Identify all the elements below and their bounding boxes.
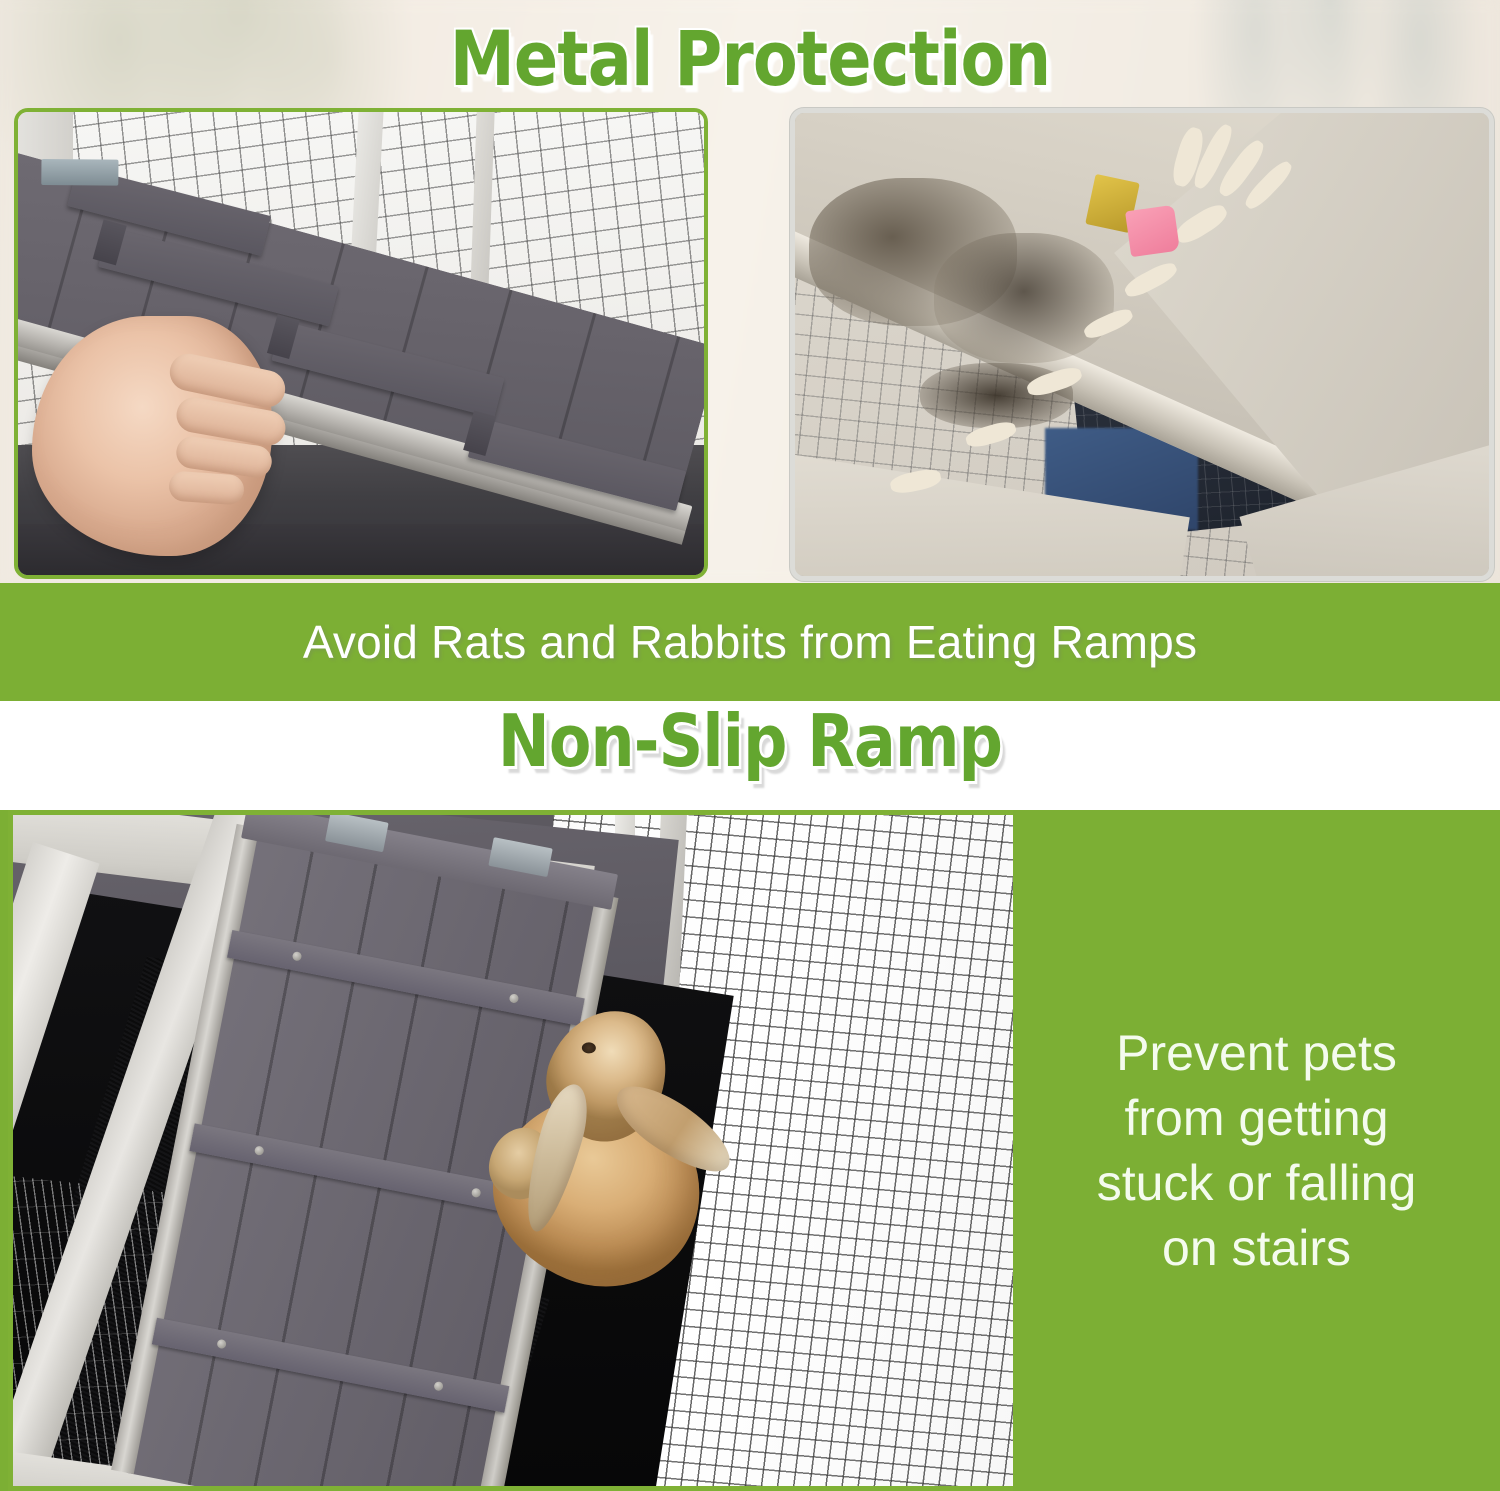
bottom-caption-panel: Prevent pets from getting stuck or falli… [1013, 810, 1500, 1491]
subtitle-section: Non-Slip Ramp [0, 701, 1500, 810]
ramp-hinge [42, 159, 119, 186]
caption-line-4: on stairs [1097, 1216, 1417, 1281]
pink-debris [1125, 205, 1180, 258]
caption-line-1: Prevent pets [1097, 1021, 1417, 1086]
chewed-ramp-photo [790, 108, 1494, 581]
bottom-section: Prevent pets from getting stuck or falli… [0, 810, 1500, 1491]
top-section: Metal Protection [0, 0, 1500, 583]
caption-line-3: stuck or falling [1097, 1151, 1417, 1216]
bottom-caption: Prevent pets from getting stuck or falli… [1081, 1021, 1433, 1281]
hand-holding-ramp-photo [14, 108, 708, 579]
ramp-photo-scene [18, 112, 704, 575]
top-photo-row [0, 108, 1500, 578]
rabbit-ramp-scene [13, 815, 1013, 1486]
section-title-non-slip-ramp: Non-Slip Ramp [105, 699, 1395, 783]
finger [168, 471, 245, 506]
caption-line-2: from getting [1097, 1086, 1417, 1151]
chew-debris [934, 233, 1114, 363]
green-banner-text: Avoid Rats and Rabbits from Eating Ramps [303, 615, 1197, 669]
rabbit-on-ramp-photo [8, 810, 1013, 1491]
damaged-ramp-scene [795, 113, 1489, 576]
green-banner: Avoid Rats and Rabbits from Eating Ramps [0, 583, 1500, 701]
page-title: Metal Protection [105, 14, 1395, 103]
